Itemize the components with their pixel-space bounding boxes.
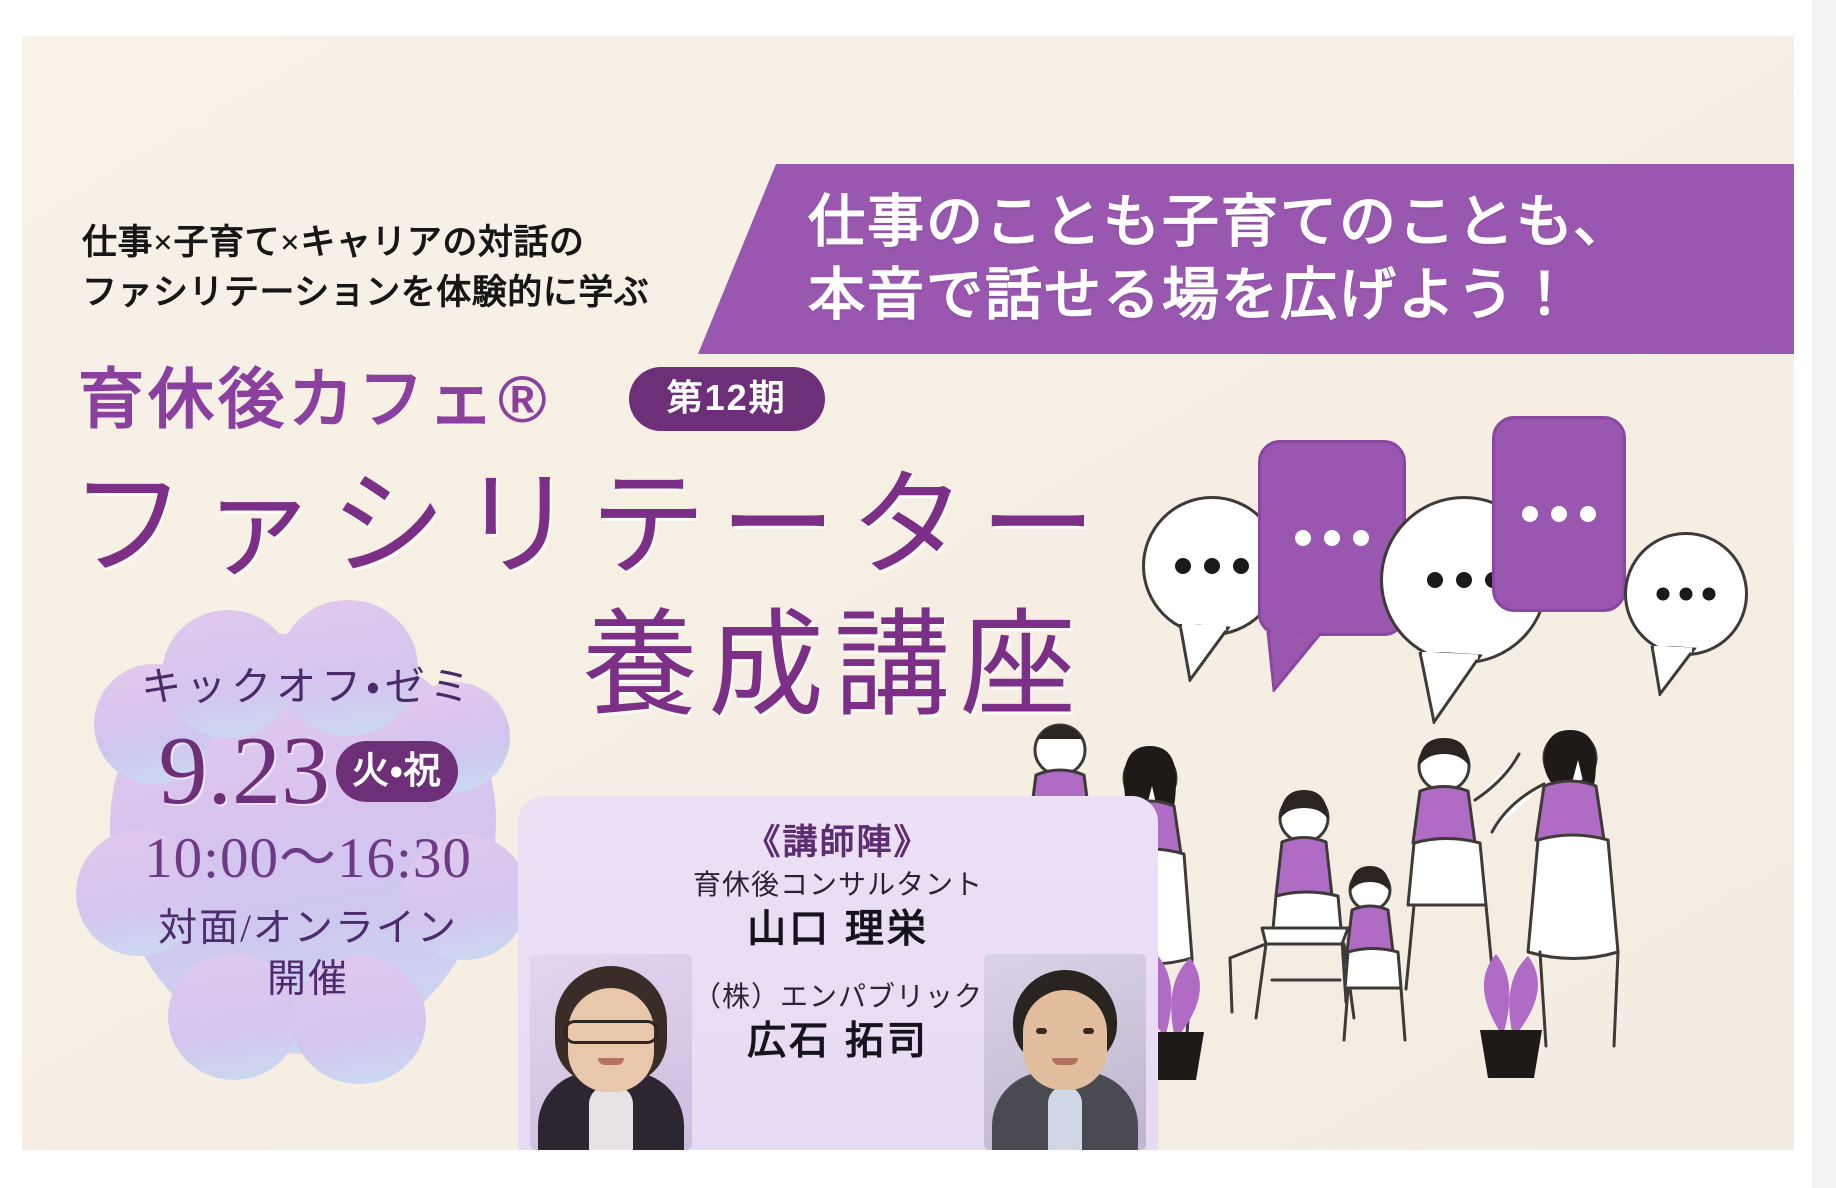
event-time: 10:00〜16:30	[82, 826, 534, 892]
headline-line-2: 本音で話せる場を広げよう！	[808, 259, 1794, 332]
speech-bubble-tail-2	[1264, 632, 1330, 692]
instructor-2-name: 広石 拓司	[648, 1018, 1028, 1067]
speech-bubble-tail-1	[1176, 624, 1236, 682]
instructors-panel: 《講師陣》 育休後コンサルタント 山口 理栄 （株）エンパブリック 広石 拓司	[518, 796, 1158, 1150]
instructors-text-block: 育休後コンサルタント 山口 理栄 （株）エンパブリック 広石 拓司	[648, 868, 1028, 1067]
glasses-icon	[563, 1020, 659, 1044]
kickoff-label: キックオフ・ゼミ	[82, 654, 534, 712]
instructor-1-role: 育休後コンサルタント	[648, 868, 1028, 902]
plant-icon-right	[1480, 954, 1542, 1078]
event-mode: 対面/オンライン 開催	[82, 904, 534, 1005]
page-edge-left	[0, 0, 22, 1188]
event-day-badge: 火・祝	[336, 741, 458, 802]
event-date-row: 9.23 火・祝	[82, 722, 534, 820]
headline-banner: 仕事のことも子育てのことも、 本音で話せる場を広げよう！	[698, 164, 1794, 354]
page-edge-right-inner	[1796, 0, 1812, 1188]
speech-bubble-tail-4	[1648, 646, 1702, 696]
instructor-2-photo	[984, 954, 1146, 1150]
speech-bubble-round-3	[1624, 532, 1748, 656]
event-details: キックオフ・ゼミ 9.23 火・祝 10:00〜16:30 対面/オンライン 開…	[82, 654, 534, 1005]
instructor-1-name: 山口 理栄	[648, 906, 1028, 955]
page-title-line-1: ファシリテーター	[70, 466, 1110, 589]
instructor-2-role: （株）エンパブリック	[648, 980, 1028, 1014]
instructors-heading: 《講師陣》	[518, 814, 1158, 865]
speech-bubble-rect-2	[1492, 416, 1626, 612]
page-title-line-2: 養成講座	[582, 606, 1086, 729]
screenshot-root: 仕事×子育て×キャリアの対話の ファシリテーションを体験的に学ぶ 仕事のことも子…	[0, 0, 1836, 1188]
brand-row: 育休後カフェ® 第12期	[78, 366, 825, 432]
brand-name: 育休後カフェ®	[78, 366, 551, 432]
illustration-area	[1142, 456, 1794, 1150]
page-edge-right	[1812, 0, 1836, 1188]
event-date: 9.23	[158, 722, 330, 820]
lead-copy: 仕事×子育て×キャリアの対話の ファシリテーションを体験的に学ぶ	[82, 218, 722, 317]
instructor-1-photo	[530, 954, 692, 1150]
headline-line-1: 仕事のことも子育てのことも、	[808, 186, 1794, 259]
term-badge: 第12期	[629, 367, 825, 431]
promotional-banner: 仕事×子育て×キャリアの対話の ファシリテーションを体験的に学ぶ 仕事のことも子…	[22, 36, 1794, 1150]
